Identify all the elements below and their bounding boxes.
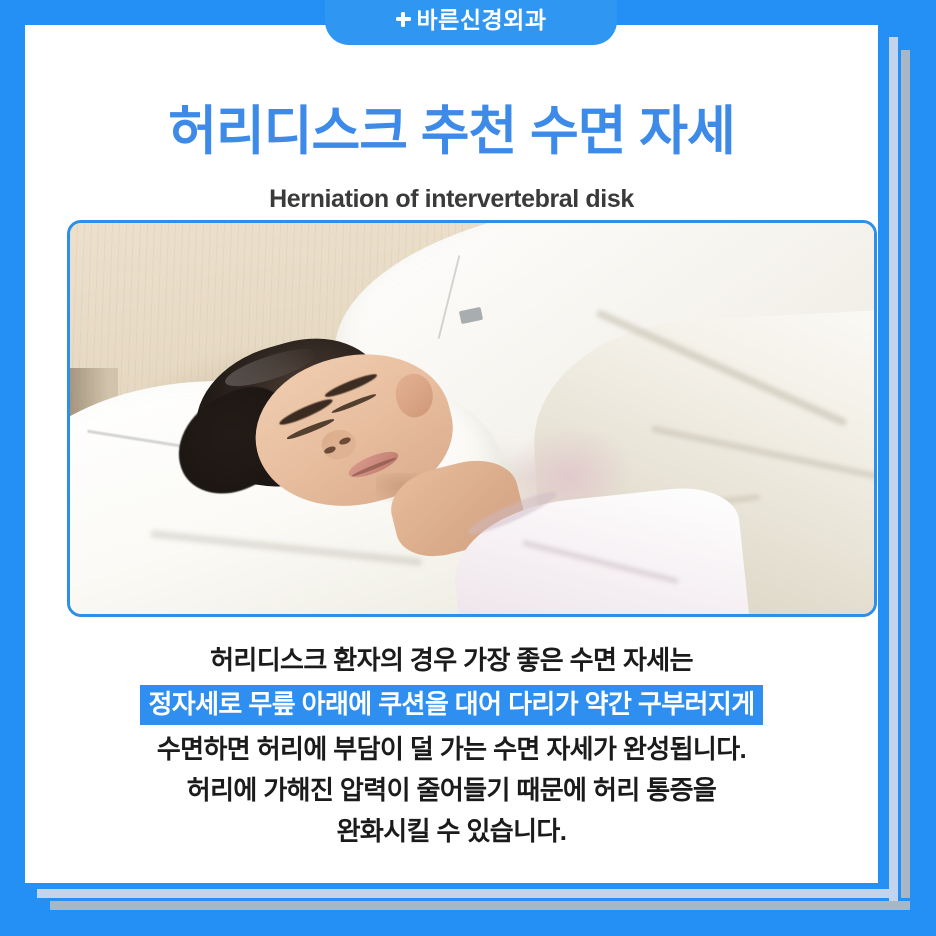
clinic-logo-tab[interactable]: 바른신경외과 — [325, 0, 617, 45]
body-highlight-text: 정자세로 무릎 아래에 쿠션을 대어 다리가 약간 구부러지게 — [140, 685, 762, 725]
body-copy: 허리디스크 환자의 경우 가장 좋은 수면 자세는 정자세로 무릎 아래에 쿠션… — [25, 640, 878, 852]
body-line-3: 수면하면 허리에 부담이 덜 가는 수면 자세가 완성됩니다. — [25, 729, 878, 770]
stack-edge-bottom-gray — [50, 901, 910, 910]
stack-edge-right-gray — [901, 50, 910, 898]
body-line-5: 완화시킬 수 있습니다. — [25, 811, 878, 852]
medical-cross-icon — [396, 12, 411, 27]
page-subtitle: Herniation of intervertebral disk — [25, 185, 878, 214]
stack-edge-right-light — [889, 37, 898, 910]
card-canvas: 허리디스크 추천 수면 자세 Herniation of interverteb… — [0, 0, 936, 936]
sleeping-posture-photo — [67, 220, 877, 617]
body-highlight-line: 정자세로 무릎 아래에 쿠션을 대어 다리가 약간 구부러지게 — [25, 684, 878, 725]
body-line-1: 허리디스크 환자의 경우 가장 좋은 수면 자세는 — [25, 640, 878, 681]
page-title: 허리디스크 추천 수면 자세 — [25, 103, 878, 160]
stack-edge-bottom-light — [37, 889, 898, 898]
card-keyline-right — [878, 25, 883, 883]
card-keyline-bottom — [25, 883, 883, 888]
photo-inner — [70, 223, 874, 614]
content-card: 허리디스크 추천 수면 자세 Herniation of interverteb… — [25, 25, 878, 883]
clinic-name-label: 바른신경외과 — [417, 9, 547, 32]
body-line-4: 허리에 가해진 압력이 줄어들기 때문에 허리 통증을 — [25, 770, 878, 811]
